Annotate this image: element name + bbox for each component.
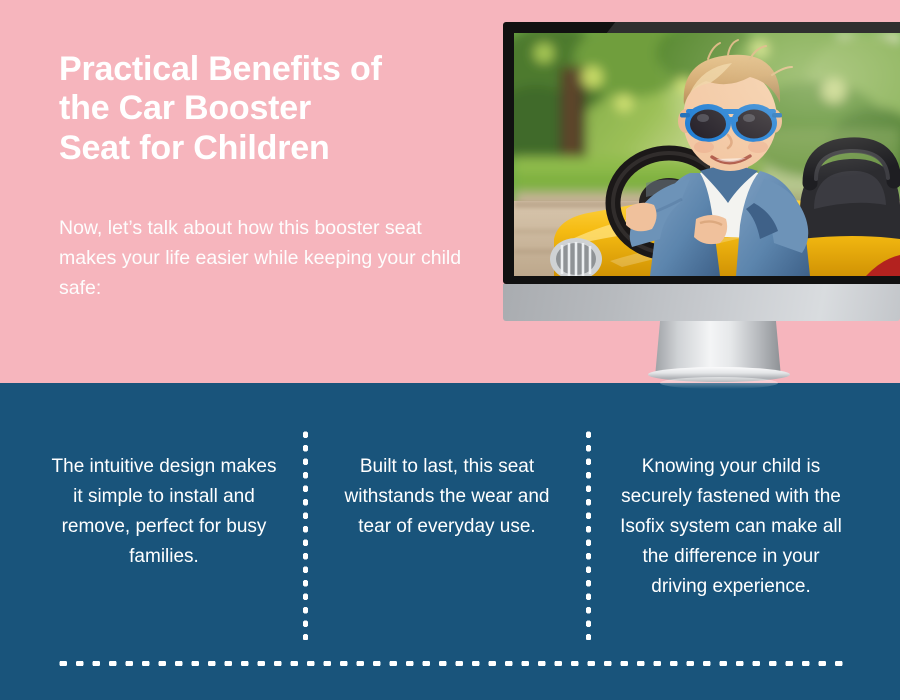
monitor-chin [503, 284, 900, 321]
page-title: Practical Benefits of the Car Booster Se… [59, 50, 479, 168]
infographic-canvas: Practical Benefits of the Car Booster Se… [0, 0, 900, 700]
desktop-monitor [503, 22, 900, 321]
page-subtitle: Now, let’s talk about how this booster s… [59, 214, 473, 303]
child-driving-toy-car-photo [514, 33, 900, 276]
benefit-column-ease-of-installation: The intuitive design makes it simple to … [46, 452, 282, 572]
benefit-column-durability: Built to last, this seat withstands the … [330, 452, 564, 542]
monitor-stand-reflection [660, 377, 778, 389]
monitor-bezel [503, 22, 900, 284]
benefit-column-isofix-safety: Knowing your child is securely fastened … [612, 452, 850, 602]
vertical-dotted-divider-1 [303, 428, 308, 640]
horizontal-dotted-rule [55, 661, 847, 666]
monitor-screen [514, 33, 900, 276]
vertical-dotted-divider-2 [586, 428, 591, 640]
